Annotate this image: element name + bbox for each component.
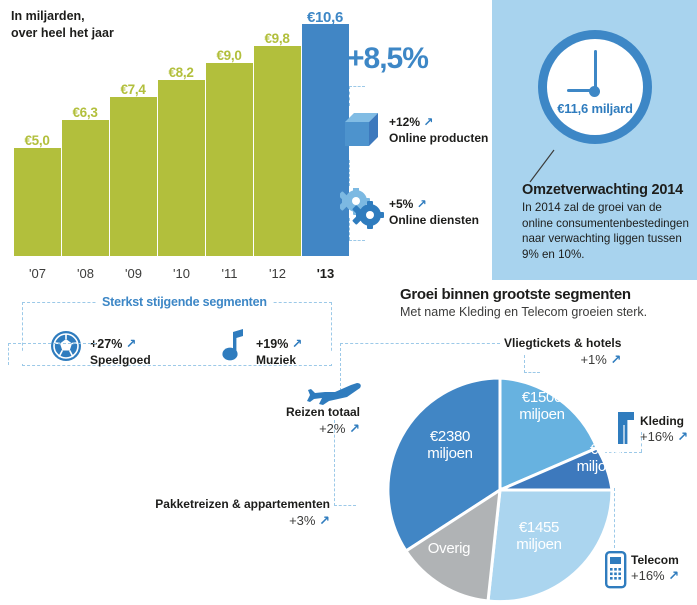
bar-2010 <box>158 80 205 256</box>
callout-online-diensten: +5% ↗ Online diensten <box>389 197 479 227</box>
arrow-up-right-icon: ↗ <box>610 352 621 367</box>
pie-label-kleding: Kleding +16% ↗ <box>640 414 688 445</box>
bar-value-2013: €10,6 <box>297 9 353 26</box>
pie-label-pct-vliegtickets: +1% <box>580 352 606 367</box>
jeans-icon <box>616 411 636 445</box>
rising-label-1: Muziek <box>256 353 302 367</box>
rising-pct-1: +19% <box>256 337 288 351</box>
rising-box-gap-left <box>22 352 44 364</box>
arrow-up-right-icon: ↗ <box>126 337 136 351</box>
pie-section-title: Groei binnen grootste segmenten <box>400 286 690 303</box>
pie-guide-left-v <box>8 343 9 365</box>
bar-label-2009: '09 <box>110 266 157 281</box>
callout-pct-1: +5% <box>389 197 413 211</box>
callout-pct-0: +12% <box>389 115 420 129</box>
pie-guide-vlieg-h <box>524 372 540 373</box>
forecast-body: In 2014 zal de groei van de online consu… <box>522 200 694 262</box>
clock-center-dot-icon <box>589 86 600 97</box>
pie-label-pct-telecom: +16% <box>631 568 665 583</box>
bar-value-2009: €7,4 <box>105 82 161 97</box>
pie-label-telecom: Telecom +16% ↗ <box>631 553 679 584</box>
bar-2012 <box>254 46 301 256</box>
soccer-ball-icon <box>50 330 82 362</box>
pie-guide-left-top <box>8 343 96 344</box>
bar-value-2008: €6,3 <box>57 105 113 120</box>
pie-label-vliegtickets: Vliegtickets & hotels +1% ↗ <box>504 336 621 368</box>
forecast-title: Omzetverwachting 2014 <box>522 182 697 198</box>
pie-chart <box>385 375 615 605</box>
pie-label-pct-kleding: +16% <box>640 429 674 444</box>
callout-online-producten: +12% ↗ Online producten <box>389 115 488 145</box>
airplane-icon <box>307 381 363 407</box>
pie-section-subtitle: Met name Kleding en Telecom groeien ster… <box>400 305 695 319</box>
arrow-up-right-icon: ↗ <box>677 429 688 444</box>
pie-label-reizen: Reizen totaal +2% ↗ <box>250 405 360 437</box>
cube-icon <box>344 112 382 150</box>
pie-label-name-kleding: Kleding <box>640 414 688 428</box>
arrow-up-right-icon: ↗ <box>292 337 302 351</box>
callout-guide-3 <box>349 160 350 186</box>
callout-guide-1 <box>349 86 365 87</box>
bar-label-2008: '08 <box>62 266 109 281</box>
rising-segments-title: Sterkst stijgende segmenten <box>96 295 273 309</box>
callout-guide-2 <box>349 86 350 106</box>
bar-2007 <box>14 148 61 256</box>
bar-label-2007: '07 <box>14 266 61 281</box>
music-note-icon <box>222 328 250 362</box>
bar-label-2012: '12 <box>254 266 301 281</box>
gears-icon <box>340 188 386 230</box>
rising-pct-0: +27% <box>90 337 122 351</box>
pie-label-name-telecom: Telecom <box>631 553 679 567</box>
bar-chart: €5,0 '07 €6,3 '08 €7,4 '09 €8,2 '10 €9,0… <box>0 0 340 290</box>
pie-guide-top <box>340 343 500 344</box>
pie-label-pct-reizen: +2% <box>319 421 345 436</box>
arrow-up-right-icon: ↗ <box>349 421 360 436</box>
bar-label-2013: '13 <box>302 266 349 281</box>
bar-2011 <box>206 63 253 256</box>
pie-guide-pakketreizen-h <box>334 505 356 506</box>
callout-label-1: Online diensten <box>389 213 479 227</box>
bar-value-2012: €9,8 <box>249 31 305 46</box>
total-growth-value: +8,5% <box>347 42 428 76</box>
pie-label-name-pakketreizen: Pakketreizen & appartementen <box>145 497 330 511</box>
callout-label-0: Online producten <box>389 131 488 145</box>
bar-value-2007: €5,0 <box>9 133 65 148</box>
rising-item-muziek: +19% ↗ Muziek <box>256 336 302 367</box>
pie-label-name-reizen: Reizen totaal <box>250 405 360 419</box>
arrow-up-right-icon: ↗ <box>423 115 433 129</box>
arrow-up-right-icon: ↗ <box>319 513 330 528</box>
callout-guide-5 <box>349 240 365 241</box>
bar-label-2011: '11 <box>206 266 253 281</box>
arrow-up-right-icon: ↗ <box>417 197 427 211</box>
bar-value-2011: €9,0 <box>201 48 257 63</box>
rising-item-speelgoed: +27% ↗ Speelgoed <box>90 336 151 367</box>
rising-label-0: Speelgoed <box>90 353 151 367</box>
bar-2009 <box>110 97 157 256</box>
bar-2008 <box>62 120 109 256</box>
bar-value-2010: €8,2 <box>153 65 209 80</box>
pie-label-pakketreizen: Pakketreizen & appartementen +3% ↗ <box>145 497 330 529</box>
pie-label-pct-pakketreizen: +3% <box>289 513 315 528</box>
forecast-clock-value: €11,6 miljard <box>547 101 643 116</box>
rising-box-gap-right <box>308 352 332 364</box>
bar-label-2010: '10 <box>158 266 205 281</box>
pie-label-name-vliegtickets: Vliegtickets & hotels <box>504 336 621 350</box>
mobile-phone-icon <box>605 551 627 589</box>
arrow-up-right-icon: ↗ <box>668 568 679 583</box>
